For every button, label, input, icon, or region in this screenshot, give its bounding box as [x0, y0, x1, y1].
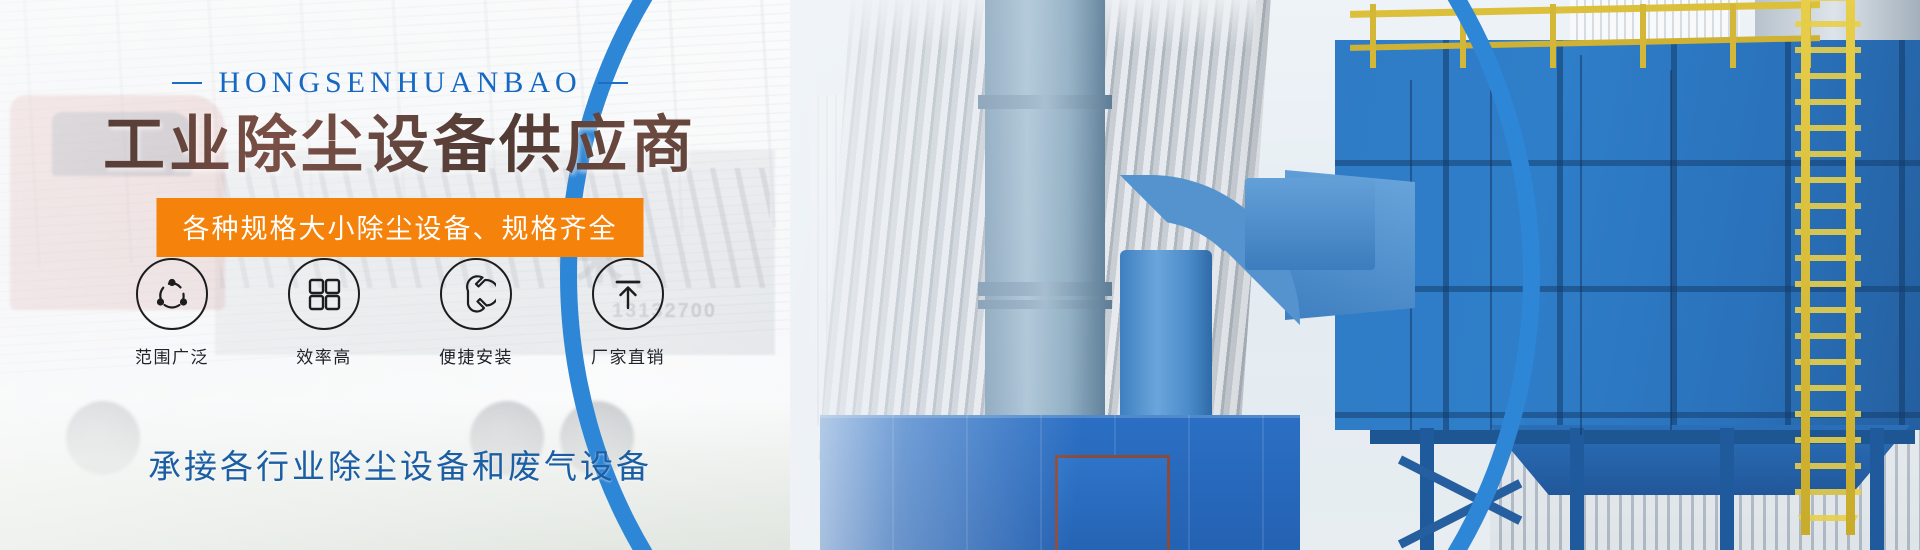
headline: 工业除尘设备供应商 [0, 108, 800, 181]
feature-label: 便捷安装 [426, 343, 526, 368]
feature-item-install[interactable]: 便捷安装 [426, 258, 526, 368]
feature-item-factory-direct[interactable]: 厂家直销 [578, 258, 678, 368]
feature-item-efficiency[interactable]: 效率高 [274, 258, 374, 368]
promo-banner: 保 13132700 [0, 0, 1920, 550]
feature-item-range[interactable]: 范围广泛 [122, 258, 222, 368]
photo-left-fade [790, 0, 1920, 550]
eyebrow-dash-right [598, 82, 628, 84]
eyebrow-dash-left [172, 82, 202, 84]
subheadline-bar: 各种规格大小除尘设备、规格齐全 [157, 198, 644, 257]
feature-label: 厂家直销 [578, 343, 678, 368]
feature-label: 效率高 [274, 343, 374, 368]
feature-label: 范围广泛 [122, 343, 222, 368]
wrench-icon [456, 274, 496, 314]
feature-icon-circle [592, 258, 664, 330]
tagline: 承接各行业除尘设备和废气设备 [0, 440, 800, 488]
grid-squares-icon [305, 275, 343, 313]
arrow-up-icon [609, 275, 647, 313]
feature-icon-circle [288, 258, 360, 330]
feature-icon-circle [136, 258, 208, 330]
feature-list: 范围广泛 效率高 [0, 258, 800, 368]
eyebrow-text: HONGSENHUANBAO [218, 66, 581, 100]
eyebrow-row: HONGSENHUANBAO [0, 66, 800, 100]
subheadline-text: 各种规格大小除尘设备、规格齐全 [183, 214, 618, 245]
banner-content: HONGSENHUANBAO 工业除尘设备供应商 各种规格大小除尘设备、规格齐全 [0, 0, 800, 550]
dust-collector-photo [790, 0, 1920, 550]
feature-icon-circle [440, 258, 512, 330]
network-nodes-icon [152, 274, 192, 314]
